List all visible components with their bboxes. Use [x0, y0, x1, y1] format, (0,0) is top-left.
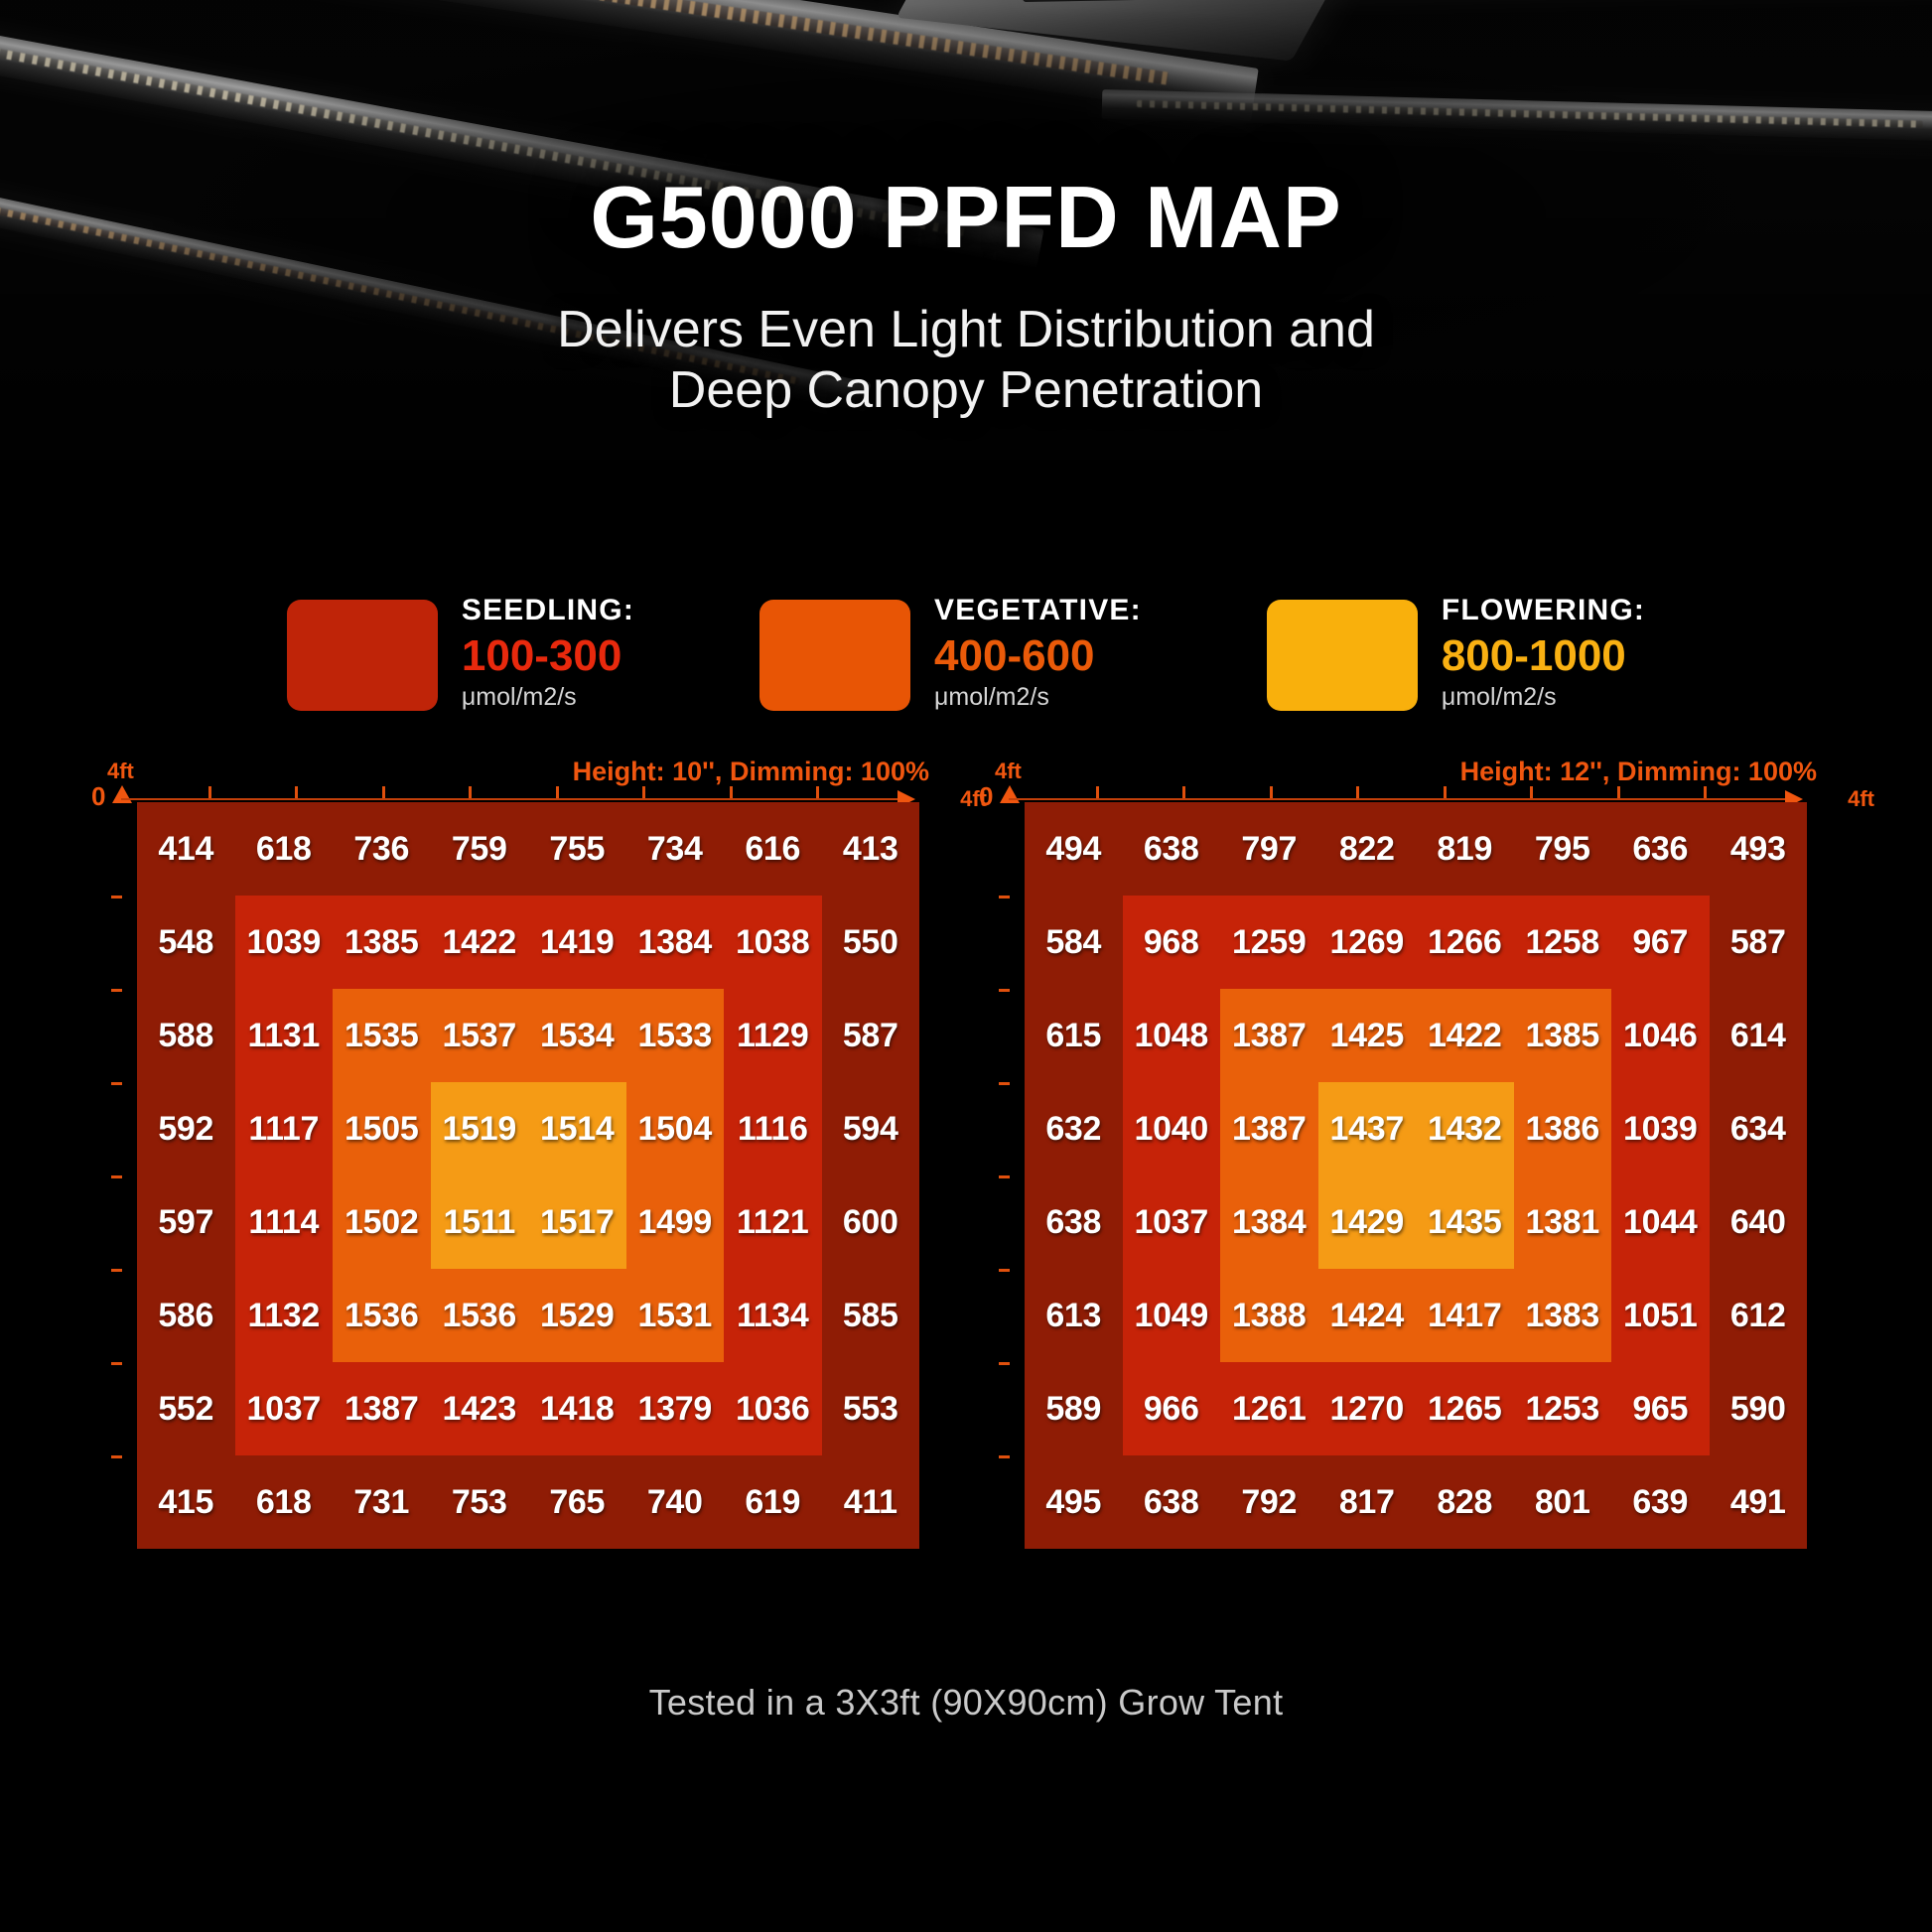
legend-units-label: μmol/m2/s [462, 683, 634, 712]
ppfd-cell: 600 [822, 1175, 920, 1269]
x-axis-tick [1270, 786, 1273, 798]
ppfd-cell: 1129 [724, 989, 822, 1082]
ppfd-cell: 1253 [1514, 1362, 1612, 1455]
ppfd-cell: 801 [1514, 1455, 1612, 1549]
legend-range-value: 400-600 [934, 631, 1142, 681]
x-axis-tick [1182, 786, 1185, 798]
y-axis-tick [111, 989, 122, 992]
ppfd-cell: 1044 [1611, 1175, 1710, 1269]
ppfd-cell: 495 [1025, 1455, 1123, 1549]
ppfd-cell: 584 [1025, 896, 1123, 989]
ppfd-cell: 1423 [431, 1362, 529, 1455]
x-axis-tick [1704, 786, 1707, 798]
axis-origin-label: 0 [91, 781, 105, 812]
legend-text-block: VEGETATIVE:400-600μmol/m2/s [934, 592, 1142, 712]
ppfd-cell: 731 [333, 1455, 431, 1549]
ppfd-cell: 586 [137, 1269, 235, 1362]
ppfd-cell: 1437 [1318, 1082, 1417, 1175]
x-axis-tick [1530, 786, 1533, 798]
ppfd-cell: 585 [822, 1269, 920, 1362]
ppfd-cell: 1379 [626, 1362, 725, 1455]
x-axis-tick [816, 786, 819, 798]
x-axis-tick [208, 786, 211, 798]
ppfd-cell: 1533 [626, 989, 725, 1082]
legend-stage-label: FLOWERING: [1442, 594, 1645, 627]
ppfd-cell: 736 [333, 802, 431, 896]
x-axis [1009, 798, 1785, 800]
ppfd-cell: 1435 [1416, 1175, 1514, 1269]
y-axis-tick [111, 1362, 122, 1365]
ppfd-cell: 1261 [1220, 1362, 1318, 1455]
y-axis-tick [111, 1175, 122, 1178]
legend-color-swatch [759, 600, 910, 711]
ppfd-cell: 493 [1710, 802, 1808, 896]
ppfd-cell: 636 [1611, 802, 1710, 896]
test-conditions-note: Tested in a 3X3ft (90X90cm) Grow Tent [0, 1682, 1932, 1724]
ppfd-cell: 1259 [1220, 896, 1318, 989]
ppfd-cell: 1036 [724, 1362, 822, 1455]
ppfd-cell: 1422 [1416, 989, 1514, 1082]
legend-item: VEGETATIVE:400-600μmol/m2/s [759, 592, 1142, 712]
ppfd-cell: 1387 [1220, 989, 1318, 1082]
y-axis-tick [111, 1455, 122, 1458]
y-axis-tick [999, 1082, 1010, 1085]
ppfd-cell: 1531 [626, 1269, 725, 1362]
ppfd-cell: 817 [1318, 1455, 1417, 1549]
ppfd-cell: 1519 [431, 1082, 529, 1175]
ppfd-cell: 618 [235, 1455, 334, 1549]
ppfd-cell: 822 [1318, 802, 1417, 896]
ppfd-cell: 1039 [235, 896, 334, 989]
x-axis-tick [1444, 786, 1447, 798]
ppfd-cell: 1265 [1416, 1362, 1514, 1455]
ppfd-cell: 740 [626, 1455, 725, 1549]
ppfd-cell: 759 [431, 802, 529, 896]
x-axis [121, 798, 897, 800]
ppfd-cell: 413 [822, 802, 920, 896]
ppfd-cell: 1114 [235, 1175, 334, 1269]
ppfd-cell: 597 [137, 1175, 235, 1269]
legend-units-label: μmol/m2/s [934, 683, 1142, 712]
ppfd-cell: 1266 [1416, 896, 1514, 989]
x-axis-tick [1617, 786, 1620, 798]
ppfd-cell: 1514 [528, 1082, 626, 1175]
x-axis-tick [730, 786, 733, 798]
ppfd-cell: 638 [1123, 802, 1221, 896]
ppfd-cell: 634 [1710, 1082, 1808, 1175]
x-axis-max-label: 4ft [1848, 786, 1874, 812]
x-axis-tick [642, 786, 645, 798]
ppfd-cell: 1048 [1123, 989, 1221, 1082]
ppfd-cell: 1134 [724, 1269, 822, 1362]
y-axis-tick [999, 1175, 1010, 1178]
legend-stage-label: VEGETATIVE: [934, 594, 1142, 627]
ppfd-cell: 640 [1710, 1175, 1808, 1269]
ppfd-cell: 819 [1416, 802, 1514, 896]
ppfd-cell: 1381 [1514, 1175, 1612, 1269]
ppfd-cell: 638 [1025, 1175, 1123, 1269]
page-title: G5000 PPFD MAP [0, 167, 1932, 268]
y-axis-tick [999, 1269, 1010, 1272]
x-axis-tick [382, 786, 385, 798]
ppfd-cell: 1037 [1123, 1175, 1221, 1269]
legend-item: FLOWERING:800-1000μmol/m2/s [1267, 592, 1645, 712]
heatmap-grid: 4146187367597557346164135481039138514221… [137, 802, 919, 1549]
ppfd-cell: 1517 [528, 1175, 626, 1269]
ppfd-cell: 594 [822, 1082, 920, 1175]
ppfd-cell: 967 [1611, 896, 1710, 989]
legend-text-block: SEEDLING:100-300μmol/m2/s [462, 592, 634, 712]
ppfd-cell: 1505 [333, 1082, 431, 1175]
ppfd-cell: 965 [1611, 1362, 1710, 1455]
subtitle-line-1: Delivers Even Light Distribution and [0, 300, 1932, 360]
ppfd-cell: 614 [1710, 989, 1808, 1082]
ppfd-cell: 734 [626, 802, 725, 896]
ppfd-cell: 1499 [626, 1175, 725, 1269]
ppfd-cell: 1117 [235, 1082, 334, 1175]
ppfd-cell: 1037 [235, 1362, 334, 1455]
x-axis-tick [469, 786, 472, 798]
ppfd-cell: 1258 [1514, 896, 1612, 989]
ppfd-cell: 616 [724, 802, 822, 896]
ppfd-cell: 1418 [528, 1362, 626, 1455]
ppfd-cell: 1536 [431, 1269, 529, 1362]
ppfd-cell: 619 [724, 1455, 822, 1549]
ppfd-cell: 1425 [1318, 989, 1417, 1082]
ppfd-cell: 1424 [1318, 1269, 1417, 1362]
ppfd-cell: 1384 [626, 896, 725, 989]
ppfd-cell: 1270 [1318, 1362, 1417, 1455]
ppfd-cell: 1537 [431, 989, 529, 1082]
x-axis-tick [1356, 786, 1359, 798]
y-axis-max-label: 4ft [995, 759, 1022, 784]
ppfd-cell: 1385 [1514, 989, 1612, 1082]
ppfd-cell: 1387 [1220, 1082, 1318, 1175]
ppfd-cell: 414 [137, 802, 235, 896]
legend-color-swatch [1267, 600, 1418, 711]
x-axis-tick [1096, 786, 1099, 798]
ppfd-cell: 1038 [724, 896, 822, 989]
y-axis-tick [999, 989, 1010, 992]
ppfd-cell: 755 [528, 802, 626, 896]
heatmap-condition-label: Height: 12'', Dimming: 100% [1460, 757, 1817, 787]
ppfd-cell: 797 [1220, 802, 1318, 896]
ppfd-cell: 618 [235, 802, 334, 896]
subtitle-line-2: Deep Canopy Penetration [0, 360, 1932, 421]
legend-text-block: FLOWERING:800-1000μmol/m2/s [1442, 592, 1645, 712]
ppfd-cell: 1387 [333, 1362, 431, 1455]
y-axis-tick [999, 896, 1010, 898]
ppfd-cell: 1051 [1611, 1269, 1710, 1362]
y-axis-tick [111, 896, 122, 898]
ppfd-cell: 1502 [333, 1175, 431, 1269]
legend-range-value: 800-1000 [1442, 631, 1645, 681]
ppfd-cell: 638 [1123, 1455, 1221, 1549]
ppfd-cell: 548 [137, 896, 235, 989]
ppfd-cell: 1132 [235, 1269, 334, 1362]
page-subtitle: Delivers Even Light Distribution and Dee… [0, 300, 1932, 422]
ppfd-cell: 1049 [1123, 1269, 1221, 1362]
y-axis-tick [111, 1269, 122, 1272]
ppfd-cell: 615 [1025, 989, 1123, 1082]
ppfd-cell: 1536 [333, 1269, 431, 1362]
ppfd-cell: 1417 [1416, 1269, 1514, 1362]
ppfd-cell: 612 [1710, 1269, 1808, 1362]
ppfd-cell: 765 [528, 1455, 626, 1549]
ppfd-cell: 1388 [1220, 1269, 1318, 1362]
ppfd-cell: 1039 [1611, 1082, 1710, 1175]
ppfd-cell: 1116 [724, 1082, 822, 1175]
ppfd-cell: 1384 [1220, 1175, 1318, 1269]
y-axis-max-label: 4ft [107, 759, 134, 784]
ppfd-cell: 590 [1710, 1362, 1808, 1455]
ppfd-cell: 1040 [1123, 1082, 1221, 1175]
y-axis-tick [111, 1082, 122, 1085]
ppfd-cell: 613 [1025, 1269, 1123, 1362]
y-axis-arrow-icon [1000, 785, 1020, 803]
ppfd-cell: 639 [1611, 1455, 1710, 1549]
ppfd-cell: 491 [1710, 1455, 1808, 1549]
y-axis-tick [999, 1455, 1010, 1458]
ppfd-cell: 1121 [724, 1175, 822, 1269]
ppfd-cell: 415 [137, 1455, 235, 1549]
legend-stage-label: SEEDLING: [462, 594, 634, 627]
ppfd-cell: 1529 [528, 1269, 626, 1362]
ppfd-cell: 588 [137, 989, 235, 1082]
legend-color-swatch [287, 600, 438, 711]
ppfd-cell: 1534 [528, 989, 626, 1082]
ppfd-cell: 1419 [528, 896, 626, 989]
ppfd-cell: 494 [1025, 802, 1123, 896]
axis-origin-label: 0 [979, 781, 993, 812]
ppfd-cell: 552 [137, 1362, 235, 1455]
ppfd-cell: 587 [822, 989, 920, 1082]
ppfd-cell: 753 [431, 1455, 529, 1549]
ppfd-cell: 592 [137, 1082, 235, 1175]
ppfd-cell: 411 [822, 1455, 920, 1549]
ppfd-cell: 1535 [333, 989, 431, 1082]
ppfd-cell: 1046 [1611, 989, 1710, 1082]
legend-units-label: μmol/m2/s [1442, 683, 1645, 712]
heatmap-condition-label: Height: 10'', Dimming: 100% [573, 757, 929, 787]
ppfd-cell: 587 [1710, 896, 1808, 989]
legend-range-value: 100-300 [462, 631, 634, 681]
ppfd-cell: 1504 [626, 1082, 725, 1175]
hero-text-block: G5000 PPFD MAP Delivers Even Light Distr… [0, 0, 1932, 422]
ppfd-cell: 1131 [235, 989, 334, 1082]
ppfd-cell: 1269 [1318, 896, 1417, 989]
y-axis-tick [999, 1362, 1010, 1365]
ppfd-cell: 828 [1416, 1455, 1514, 1549]
ppfd-cell: 1511 [431, 1175, 529, 1269]
ppfd-cell: 553 [822, 1362, 920, 1455]
ppfd-cell: 1432 [1416, 1082, 1514, 1175]
ppfd-cell: 792 [1220, 1455, 1318, 1549]
ppfd-cell: 966 [1123, 1362, 1221, 1455]
ppfd-cell: 1429 [1318, 1175, 1417, 1269]
ppfd-cell: 1383 [1514, 1269, 1612, 1362]
ppfd-cell: 1385 [333, 896, 431, 989]
ppfd-cell: 1422 [431, 896, 529, 989]
y-axis-arrow-icon [112, 785, 132, 803]
x-axis-tick [556, 786, 559, 798]
x-axis-tick [295, 786, 298, 798]
ppfd-cell: 632 [1025, 1082, 1123, 1175]
legend-item: SEEDLING:100-300μmol/m2/s [287, 592, 634, 712]
ppfd-cell: 795 [1514, 802, 1612, 896]
ppfd-cell: 968 [1123, 896, 1221, 989]
ppfd-cell: 1386 [1514, 1082, 1612, 1175]
ppfd-cell: 550 [822, 896, 920, 989]
ppfd-cell: 589 [1025, 1362, 1123, 1455]
ppfd-legend: SEEDLING:100-300μmol/m2/sVEGETATIVE:400-… [0, 592, 1932, 712]
heatmap-grid: 4946387978228197956364935849681259126912… [1025, 802, 1807, 1549]
